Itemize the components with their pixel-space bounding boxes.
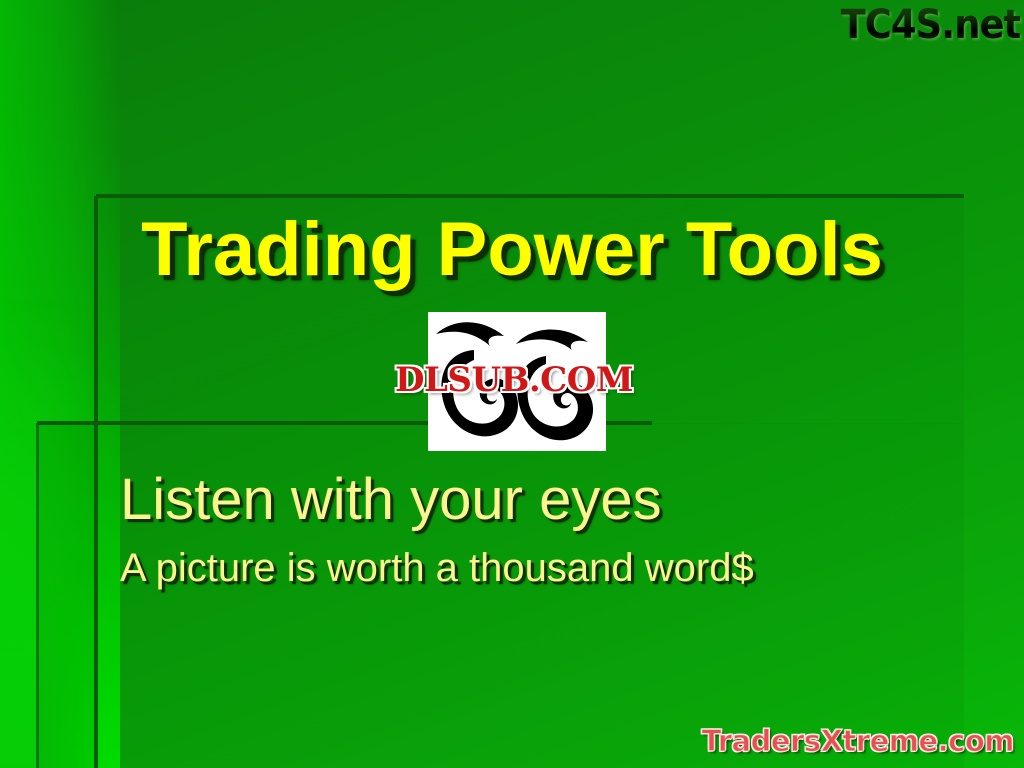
slide-tagline: A picture is worth a thousand word$ [120,546,754,591]
tc4s-watermark: TC4S.net [840,2,1020,48]
horizontal-rule-top [96,194,964,198]
presentation-slide: Trading Power Tools DLSUB.COM Listen wit… [0,0,1024,768]
slide-title: Trading Power Tools [0,212,1024,288]
slide-subtitle: Listen with your eyes [120,466,662,533]
tradersxtreme-watermark: TradersXtreme.com [702,724,1014,758]
dlsub-watermark: DLSUB.COM [372,360,656,400]
vertical-rule-left [36,423,39,768]
lower-decoration-panel-strip [37,423,96,768]
